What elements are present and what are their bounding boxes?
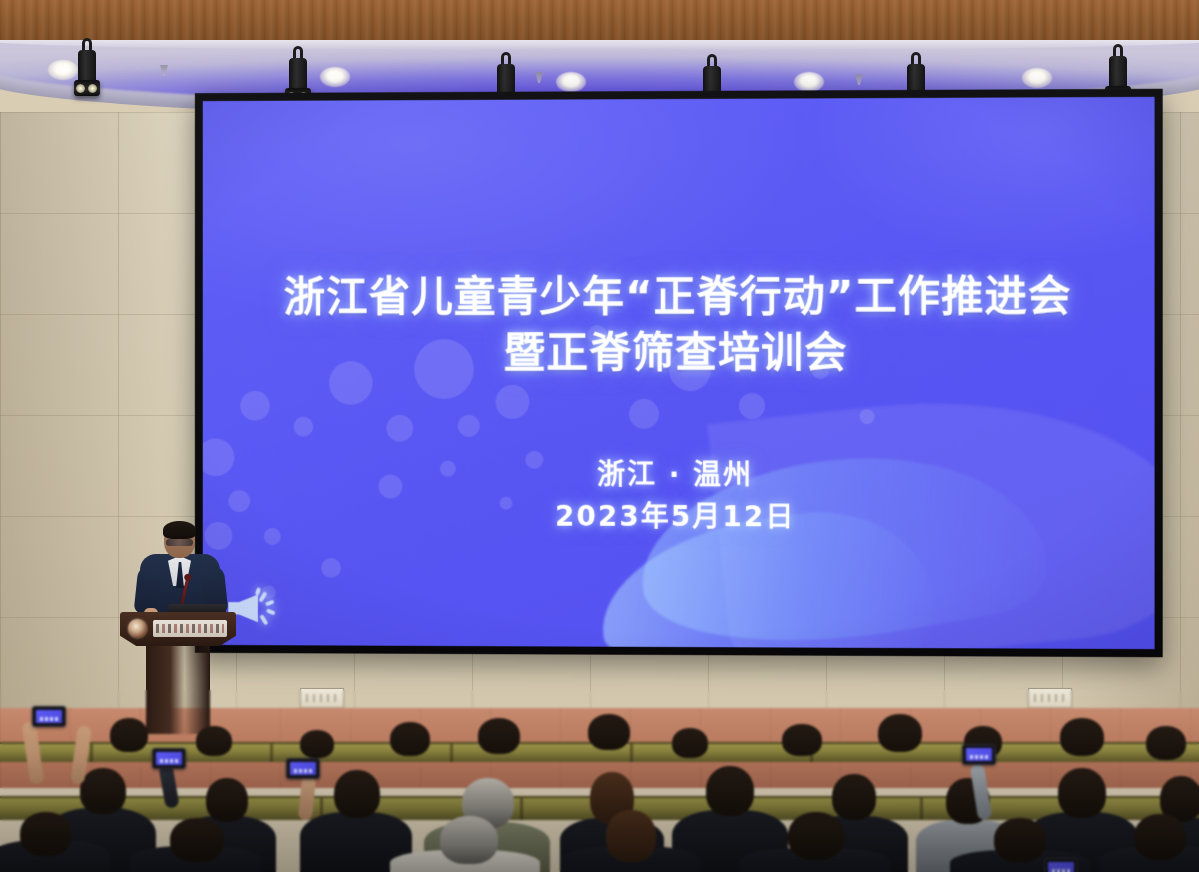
smartphone-recording-icon[interactable] <box>152 748 186 769</box>
slide-location: 浙江 · 温州 <box>203 453 1155 497</box>
seat-divider <box>920 798 923 820</box>
audience-head <box>206 778 248 822</box>
audience-head <box>1060 718 1104 756</box>
audience-head <box>672 728 708 758</box>
seat-divider <box>270 744 273 762</box>
seat-divider <box>630 744 633 762</box>
smartphone-recording-icon[interactable] <box>1044 858 1078 872</box>
decorative-circle <box>386 415 413 442</box>
decorative-circle <box>458 415 480 437</box>
recessed-downlight-icon <box>1022 68 1052 88</box>
audience-head <box>832 774 876 820</box>
audience-head <box>994 818 1046 862</box>
audience-head <box>878 714 922 752</box>
led-display-panel[interactable]: 浙江省儿童青少年“正脊行动”工作推进会 暨正脊筛查培训会 浙江 · 温州 202… <box>195 89 1163 657</box>
sound-wave-bar <box>265 599 275 606</box>
recessed-downlight-icon <box>794 72 824 92</box>
audience-head <box>440 816 498 864</box>
audience-head <box>334 770 380 818</box>
audience-head <box>706 766 754 816</box>
recessed-downlight-icon <box>556 72 586 92</box>
decorative-circle <box>293 417 313 437</box>
slide-subtitle: 浙江 · 温州 2023年5月12日 <box>203 453 1155 539</box>
slide-title: 浙江省儿童青少年“正脊行动”工作推进会 暨正脊筛查培训会 <box>203 268 1155 381</box>
slide-date: 2023年5月12日 <box>203 495 1155 539</box>
decorative-circle <box>321 558 341 578</box>
presenter-at-podium <box>132 522 228 618</box>
audience-head <box>196 726 232 756</box>
decorative-circle <box>496 385 530 419</box>
decorative-circle <box>629 399 659 429</box>
slide-title-line-2: 暨正脊筛查培训会 <box>203 325 1155 382</box>
audience-head <box>110 718 148 752</box>
seat-divider <box>520 798 523 820</box>
presenter-glasses-icon <box>166 539 193 546</box>
presentation-slide[interactable]: 浙江省儿童青少年“正脊行动”工作推进会 暨正脊筛查培训会 浙江 · 温州 202… <box>203 97 1155 649</box>
podium-nameplate-icon <box>153 620 227 637</box>
audience-head <box>478 718 520 754</box>
audience-head <box>20 812 72 856</box>
sound-wave-bar <box>266 608 276 615</box>
audience-head <box>1134 814 1186 860</box>
smartphone-recording-icon[interactable] <box>286 758 320 779</box>
audience-head <box>788 812 844 860</box>
audience-head <box>588 714 630 750</box>
audience-head <box>390 722 430 756</box>
recessed-downlight-icon <box>320 67 350 87</box>
seat-divider <box>90 744 93 762</box>
audience-head <box>782 724 822 756</box>
phone-screen <box>156 752 182 765</box>
decorative-circle <box>739 393 765 419</box>
stage-spotlight-icon <box>74 38 100 100</box>
audience-head <box>300 730 334 758</box>
audience-head <box>1058 768 1106 818</box>
conference-hall-photo: 浙江省儿童青少年“正脊行动”工作推进会 暨正脊筛查培训会 浙江 · 温州 202… <box>0 0 1199 872</box>
audience-head <box>606 810 656 862</box>
seat-divider <box>450 744 453 762</box>
sound-wave-bar <box>255 587 261 596</box>
slide-title-line-1: 浙江省儿童青少年“正脊行动”工作推进会 <box>203 268 1155 325</box>
phone-screen <box>966 748 992 761</box>
audience-head <box>80 768 126 814</box>
institution-emblem-icon <box>128 619 147 638</box>
phone-screen <box>290 762 316 775</box>
smartphone-recording-icon[interactable] <box>32 706 66 727</box>
phone-screen <box>1048 862 1074 872</box>
presenter-hair <box>163 521 196 539</box>
audience-head <box>170 818 224 862</box>
smartphone-recording-icon[interactable] <box>962 744 996 765</box>
audience-head <box>1146 726 1186 760</box>
audience-area <box>0 700 1199 872</box>
decorative-circle <box>240 391 270 421</box>
phone-screen <box>36 710 62 723</box>
sound-wave-bar <box>259 614 268 625</box>
